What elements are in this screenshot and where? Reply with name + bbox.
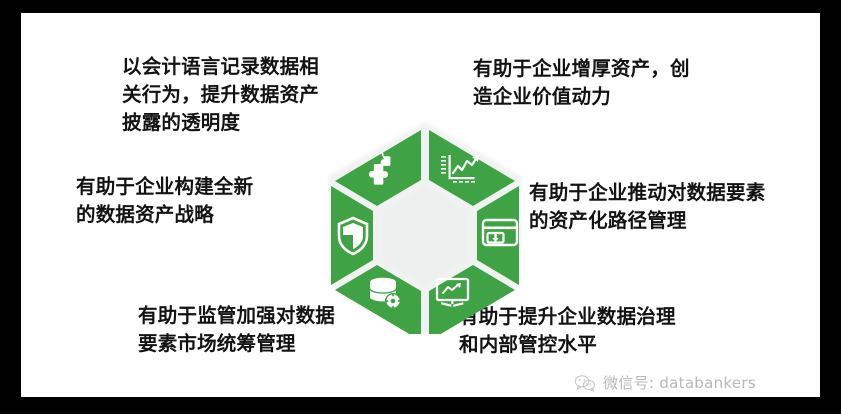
callout-right: 有助于企业推动对数据要素 的资产化路径管理 (529, 179, 804, 235)
slide-canvas: 以会计语言记录数据相 关行为，提升数据资产 披露的透明度 有助于企业增厚资产，创… (21, 13, 820, 397)
watermark-text: 微信号: databankers (603, 374, 756, 392)
callout-left: 有助于企业构建全新 的数据资产战略 (76, 173, 321, 229)
shield-icon (339, 218, 367, 254)
wechat-icon (574, 374, 596, 392)
watermark: 微信号: databankers (574, 374, 756, 392)
hexagon-diagram (309, 118, 541, 334)
screenshot-frame: 以会计语言记录数据相 关行为，提升数据资产 披露的透明度 有助于企业增厚资产，创… (0, 0, 841, 414)
callout-top-right: 有助于企业增厚资产，创 造企业价值动力 (473, 55, 743, 111)
